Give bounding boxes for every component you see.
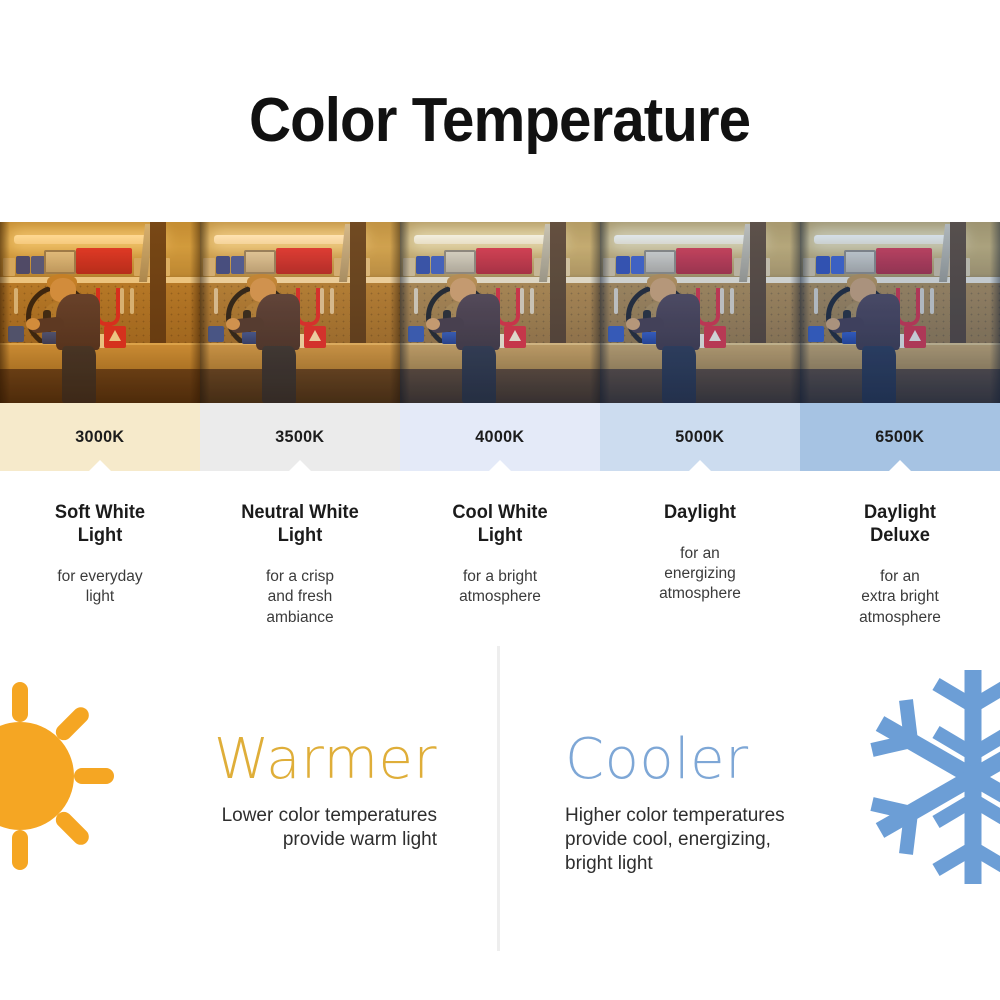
description-column-6500k: Daylight Deluxe for an extra bright atmo… bbox=[800, 501, 1000, 628]
cooler-section: Cooler Higher color temperatures provide… bbox=[503, 640, 1000, 1000]
warm-cool-comparison: Warmer Lower color temperatures provide … bbox=[0, 640, 1000, 1000]
light-description-5000k: for an energizing atmosphere bbox=[614, 544, 786, 604]
swatch-3500k[interactable]: 3500K bbox=[200, 403, 400, 471]
swatch-4000k[interactable]: 4000K bbox=[400, 403, 600, 471]
warmer-text: Lower color temperatures provide warm li… bbox=[222, 804, 437, 852]
swatch-notch-icon bbox=[489, 460, 511, 471]
sun-icon bbox=[0, 664, 144, 884]
light-name-3500k: Neutral White Light bbox=[217, 501, 382, 547]
cooler-text: Higher color temperatures provide cool, … bbox=[565, 804, 785, 876]
snowflake-icon bbox=[858, 662, 1000, 892]
swatch-label-5000k: 5000K bbox=[675, 427, 724, 447]
workshop-photo-5000k bbox=[600, 222, 800, 403]
vertical-divider bbox=[497, 646, 500, 951]
swatch-notch-icon bbox=[689, 460, 711, 471]
light-name-5000k: Daylight bbox=[617, 501, 782, 524]
workshop-photo-6500k bbox=[800, 222, 1000, 403]
workshop-photo-3500k bbox=[200, 222, 400, 403]
swatch-notch-icon bbox=[89, 460, 111, 471]
description-column-4000k: Cool White Light for a bright atmosphere bbox=[400, 501, 600, 628]
light-description-3500k: for a crisp and fresh ambiance bbox=[214, 567, 386, 627]
description-row: Soft White Light for everyday light Neut… bbox=[0, 471, 1000, 628]
swatch-notch-icon bbox=[889, 460, 911, 471]
swatch-5000k[interactable]: 5000K bbox=[600, 403, 800, 471]
swatch-label-4000k: 4000K bbox=[475, 427, 524, 447]
description-column-3000k: Soft White Light for everyday light bbox=[0, 501, 200, 628]
title-area: Color Temperature bbox=[0, 0, 1000, 222]
kelvin-swatch-row: 3000K 3500K 4000K 5000K 6500K bbox=[0, 403, 1000, 471]
photo-strip bbox=[0, 222, 1000, 403]
page-title: Color Temperature bbox=[249, 85, 750, 156]
workshop-photo-4000k bbox=[400, 222, 600, 403]
description-column-3500k: Neutral White Light for a crisp and fres… bbox=[200, 501, 400, 628]
light-description-4000k: for a bright atmosphere bbox=[414, 567, 586, 607]
swatch-label-3500k: 3500K bbox=[275, 427, 324, 447]
light-name-4000k: Cool White Light bbox=[417, 501, 582, 547]
swatch-label-6500k: 6500K bbox=[875, 427, 924, 447]
workshop-photo-3000k bbox=[0, 222, 200, 403]
light-description-6500k: for an extra bright atmosphere bbox=[814, 567, 986, 627]
swatch-6500k[interactable]: 6500K bbox=[800, 403, 1000, 471]
warmer-section: Warmer Lower color temperatures provide … bbox=[0, 640, 497, 1000]
swatch-label-3000k: 3000K bbox=[75, 427, 124, 447]
light-name-6500k: Daylight Deluxe bbox=[817, 501, 982, 547]
light-description-3000k: for everyday light bbox=[14, 567, 186, 607]
warmer-heading: Warmer bbox=[214, 732, 437, 788]
swatch-3000k[interactable]: 3000K bbox=[0, 403, 200, 471]
cooler-heading: Cooler bbox=[565, 732, 749, 788]
light-name-3000k: Soft White Light bbox=[17, 501, 182, 547]
description-column-5000k: Daylight for an energizing atmosphere bbox=[600, 501, 800, 628]
swatch-notch-icon bbox=[289, 460, 311, 471]
